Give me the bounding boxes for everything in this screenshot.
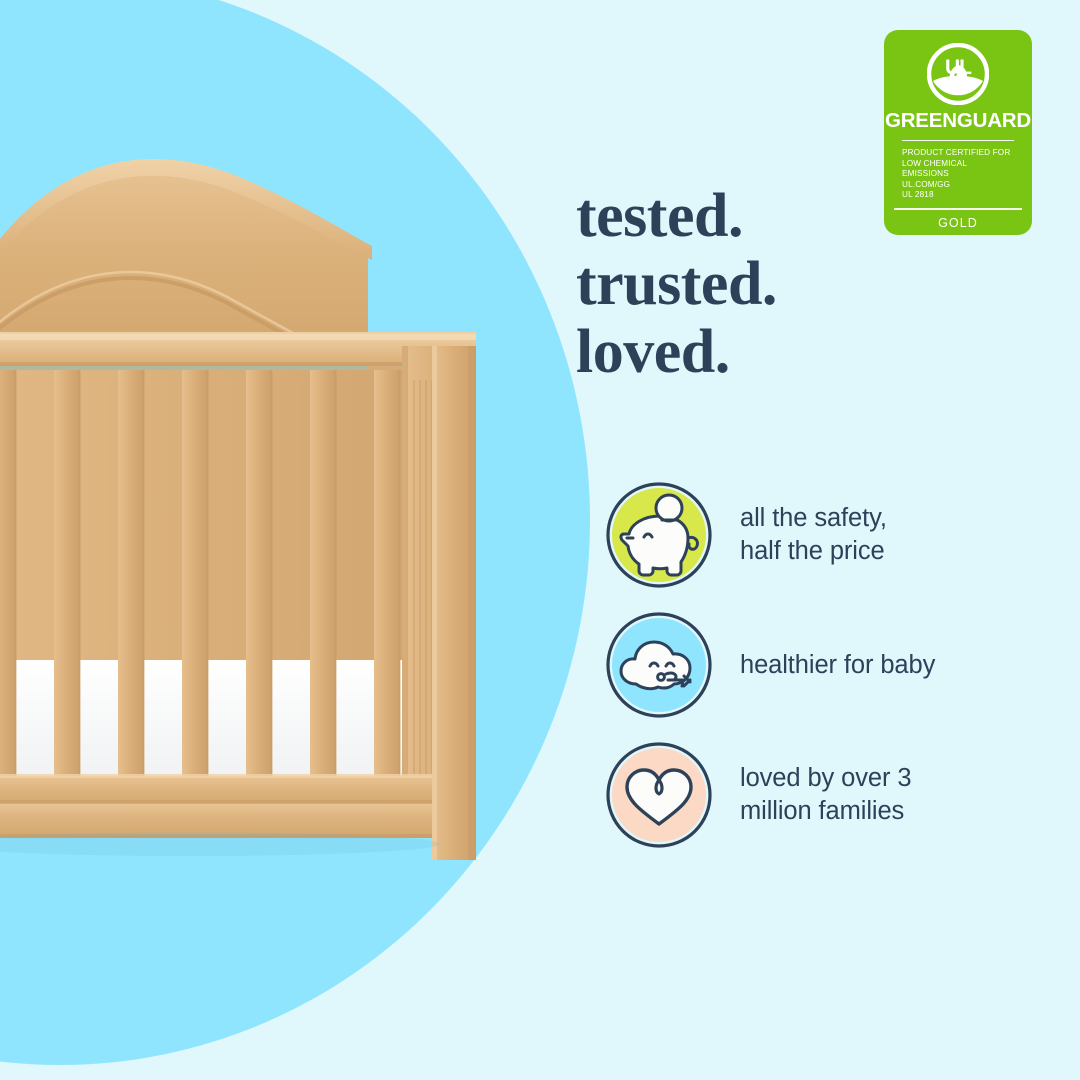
headline-line-1: tested. [576,182,777,250]
badge-divider-bottom [894,208,1022,210]
feature-label-health: healthier for baby [740,649,935,682]
promo-graphic: UL GREENGUARD PRODUCT CERTIFIED FOR LOW … [0,0,1080,1080]
ul-leaf-icon: UL [927,43,989,105]
fine-print-line-2: LOW CHEMICAL EMISSIONS [902,159,1014,180]
feature-label-health-line-1: healthier for baby [740,649,935,682]
piggy-bank-icon [600,476,718,594]
fine-print-line-4: UL 2818 [902,190,1014,201]
headline-line-3: loved. [576,318,777,386]
feature-item-loved: loved by over 3 million families [600,730,1040,860]
feature-label-savings-line-2: half the price [740,535,887,568]
feature-label-savings: all the safety, half the price [740,502,887,568]
feature-label-loved: loved by over 3 million families [740,762,911,828]
feature-label-loved-line-1: loved by over 3 [740,762,911,795]
feature-list: all the safety, half the price [600,470,1040,860]
badge-level: GOLD [938,216,978,230]
feature-item-savings: all the safety, half the price [600,470,1040,600]
feature-label-savings-line-1: all the safety, [740,502,887,535]
feature-label-loved-line-2: million families [740,795,911,828]
headline-line-2: trusted. [576,250,777,318]
heart-icon [600,736,718,854]
page-title: tested. trusted. loved. [576,182,777,386]
crib-product-image [0,140,490,900]
fine-print-line-1: PRODUCT CERTIFIED FOR [902,148,1014,159]
feature-item-health: healthier for baby [600,600,1040,730]
cloud-blowing-icon [600,606,718,724]
badge-divider-top [902,140,1014,142]
badge-title: GREENGUARD [885,111,1031,132]
badge-fine-print: PRODUCT CERTIFIED FOR LOW CHEMICAL EMISS… [902,148,1014,201]
greenguard-badge: UL GREENGUARD PRODUCT CERTIFIED FOR LOW … [884,30,1032,235]
fine-print-line-3: UL.COM/GG [902,180,1014,191]
